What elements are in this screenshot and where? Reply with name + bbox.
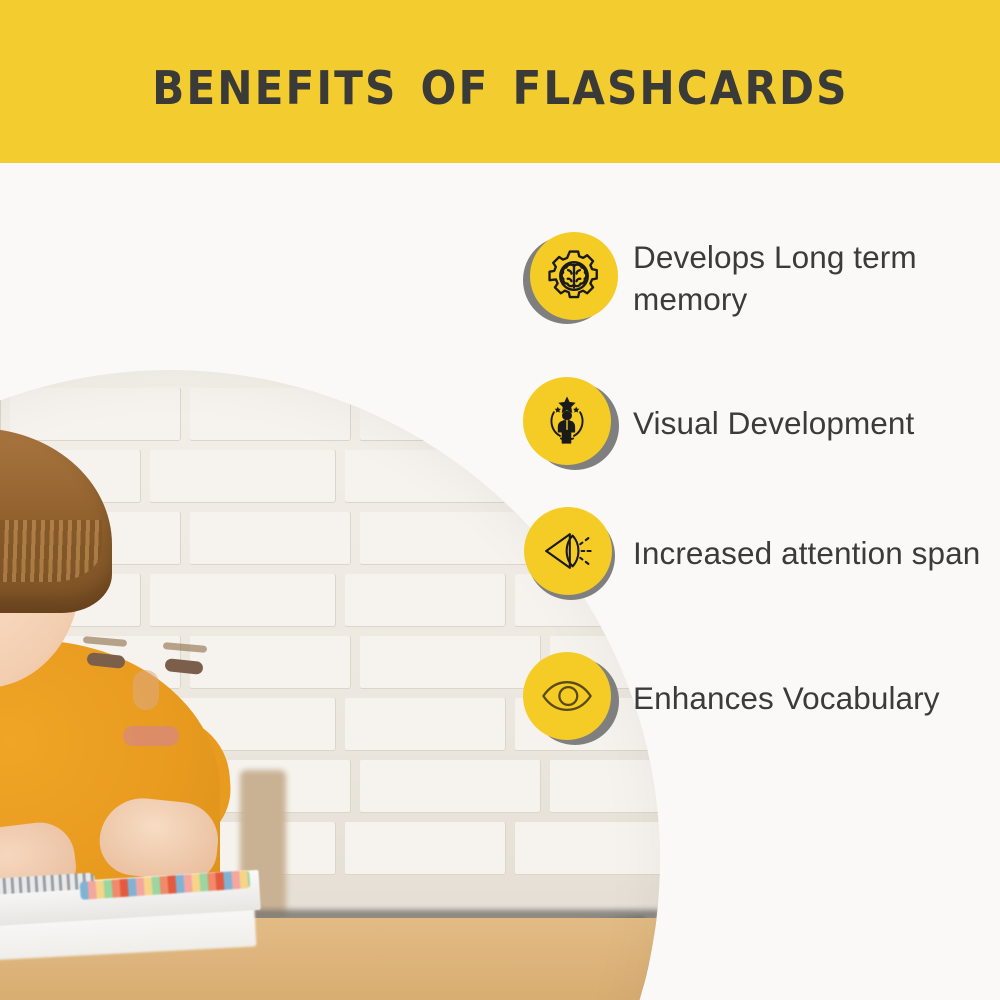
eye-rays-attention-icon <box>524 507 612 595</box>
benefit-item-long-term-memory[interactable]: Develops Long term memory <box>523 232 993 326</box>
boy-nose <box>133 670 159 710</box>
benefit-label: Visual Development <box>617 403 914 445</box>
header-band: Benefits of flashcards <box>0 0 1000 163</box>
icon-stack <box>523 652 617 746</box>
benefit-label: Develops Long term memory <box>617 237 989 321</box>
benefit-label: Increased attention span <box>617 533 980 575</box>
eye-icon <box>523 652 611 740</box>
gear-brain-icon <box>530 232 618 320</box>
infographic-poster: Benefits of flashcards <box>0 0 1000 1000</box>
icon-stack <box>523 507 617 601</box>
benefit-item-visual-development[interactable]: Visual Development <box>523 377 993 471</box>
benefit-item-attention-span[interactable]: Increased attention span <box>523 507 993 601</box>
benefit-label: Enhances Vocabulary <box>617 678 940 720</box>
boy-mouth <box>123 726 179 746</box>
person-stars-icon <box>523 377 611 465</box>
benefit-item-enhances-vocabulary[interactable]: Enhances Vocabulary <box>523 652 993 746</box>
page-title: Benefits of flashcards <box>152 43 848 120</box>
icon-stack <box>523 232 617 326</box>
icon-stack <box>523 377 617 471</box>
